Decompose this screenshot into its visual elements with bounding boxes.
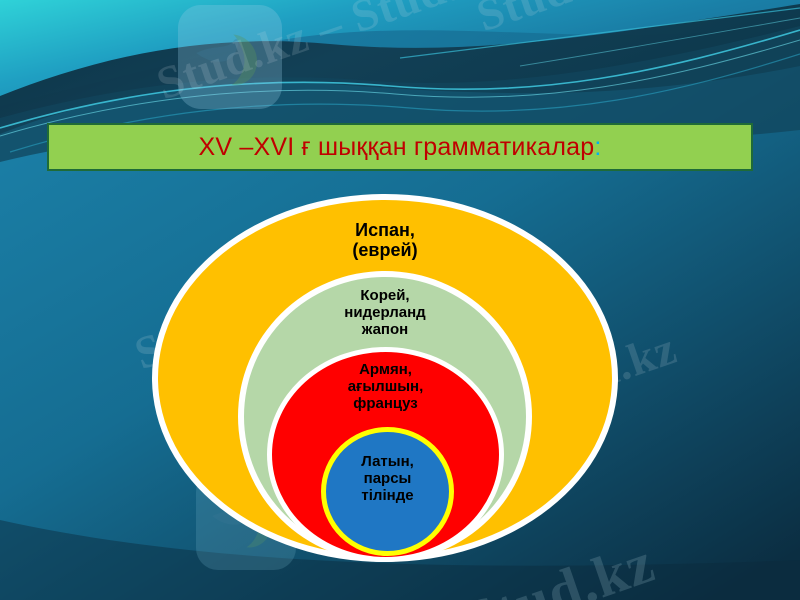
title-colon: : [594, 133, 601, 161]
watermark-bird-icon [186, 16, 274, 100]
watermark-text: Stud.kz – Stud.kz [150, 0, 510, 110]
ellipse-ring-4-label: Латын, парсы тілінде [361, 454, 414, 551]
ellipse-ring-4-latin-persian[interactable]: Латын, парсы тілінде [321, 427, 454, 556]
watermark-text: Stud.kz [470, 0, 635, 42]
title-main-text: XV –XVI ғ шыққан грамматикалар [198, 133, 594, 161]
page-title: XV –XVI ғ шыққан грамматикалар: [198, 133, 601, 162]
slide-title-bar: XV –XVI ғ шыққан грамматикалар: [47, 123, 753, 171]
watermark-logo-tile [178, 5, 282, 109]
presentation-slide: Stud.kz Stud.kz – Stud.kz Stud.kz Stud.k… [0, 0, 800, 600]
